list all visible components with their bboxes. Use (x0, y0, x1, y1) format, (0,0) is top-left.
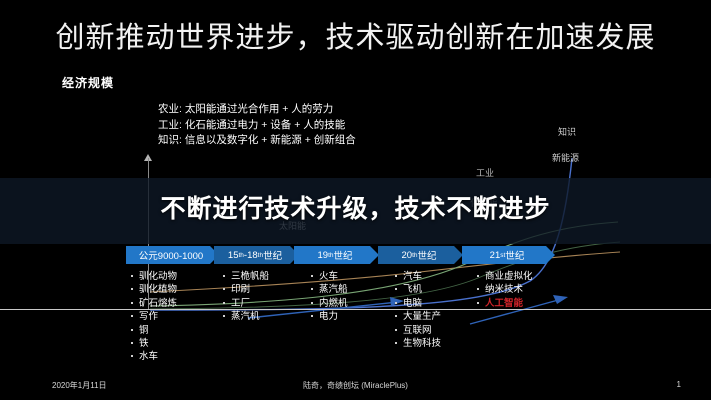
timeline-column-0: 驯化动物驯化植物矿石熔炼写作铜铁水车 (130, 270, 177, 364)
list-item: 电力 (310, 310, 348, 323)
subtitle-banner-text: 不断进行技术升级，技术不断进步 (0, 189, 711, 225)
period-text: 20 (401, 250, 412, 261)
list-item: 驯化动物 (130, 270, 177, 283)
list-item: 互联网 (394, 324, 441, 337)
timeline: 公元9000-1000 15th-18th 世纪 19th 世纪 20th 世纪… (0, 246, 711, 364)
definition-industry: 工业: 化石能通过电力 + 设备 + 人的技能 (158, 118, 356, 134)
period-text: 19 (317, 250, 328, 261)
list-item: 内燃机 (310, 297, 348, 310)
timeline-column-4: 商业虚拟化纳米技术人工智能 (476, 270, 533, 310)
list-item: 大量生产 (394, 310, 441, 323)
list-item: 驯化植物 (130, 283, 177, 296)
timeline-period-1[interactable]: 15th-18th 世纪 (214, 246, 290, 264)
curve-label-new-energy: 新能源 (552, 151, 579, 164)
list-item: 蒸汽机 (222, 310, 269, 323)
list-item: 电脑 (394, 297, 441, 310)
list-item: 飞机 (394, 283, 441, 296)
timeline-period-4[interactable]: 21st 世纪 (462, 246, 546, 264)
list-item: 铜 (130, 324, 177, 337)
definition-list: 农业: 太阳能通过光合作用 + 人的劳力 工业: 化石能通过电力 + 设备 + … (158, 102, 356, 149)
curve-label-knowledge: 知识 (558, 125, 576, 138)
timeline-period-0[interactable]: 公元9000-1000 (126, 246, 210, 264)
list-item: 三桅帆船 (222, 270, 269, 283)
definition-agriculture: 农业: 太阳能通过光合作用 + 人的劳力 (158, 102, 356, 118)
list-item: 火车 (310, 270, 348, 283)
list-item: 蒸汽船 (310, 283, 348, 296)
y-axis-label: 经济规模 (62, 74, 114, 91)
list-item: 写作 (130, 310, 177, 323)
timeline-column-3: 汽车飞机电脑大量生产互联网生物科技 (394, 270, 441, 350)
list-item: 生物科技 (394, 337, 441, 350)
list-item: 工厂 (222, 297, 269, 310)
footer: 2020年1月11日 陆奇，奇绩创坛 (MiraclePlus) 1 (0, 374, 711, 400)
period-text: 世纪 (417, 248, 436, 262)
list-item: 印刷 (222, 283, 269, 296)
page-title: 创新推动世界进步，技术驱动创新在加速发展 (0, 14, 711, 56)
slide-canvas: 创新推动世界进步，技术驱动创新在加速发展 经济规模 (0, 0, 711, 400)
period-text: 世纪 (263, 248, 282, 262)
period-text: 世纪 (505, 248, 524, 262)
list-item-highlighted: 人工智能 (476, 297, 533, 310)
timeline-period-3[interactable]: 20th 世纪 (378, 246, 454, 264)
list-item: 水车 (130, 350, 177, 363)
list-item: 纳米技术 (476, 283, 533, 296)
list-item: 铁 (130, 337, 177, 350)
footer-page-number: 1 (677, 380, 681, 389)
timeline-column-1: 三桅帆船印刷工厂蒸汽机 (222, 270, 269, 324)
period-text: 世纪 (333, 248, 352, 262)
definition-knowledge: 知识: 信息以及数字化 + 新能源 + 创新组合 (158, 133, 356, 149)
list-item: 矿石熔炼 (130, 297, 177, 310)
timeline-period-2[interactable]: 19th 世纪 (294, 246, 370, 264)
footer-author: 陆奇，奇绩创坛 (MiraclePlus) (0, 380, 711, 391)
list-item: 商业虚拟化 (476, 270, 533, 283)
timeline-column-2: 火车蒸汽船内燃机电力 (310, 270, 348, 324)
period-text: -18 (244, 250, 258, 261)
period-text: 21 (490, 250, 501, 261)
list-item: 汽车 (394, 270, 441, 283)
period-text: 15 (228, 250, 239, 261)
